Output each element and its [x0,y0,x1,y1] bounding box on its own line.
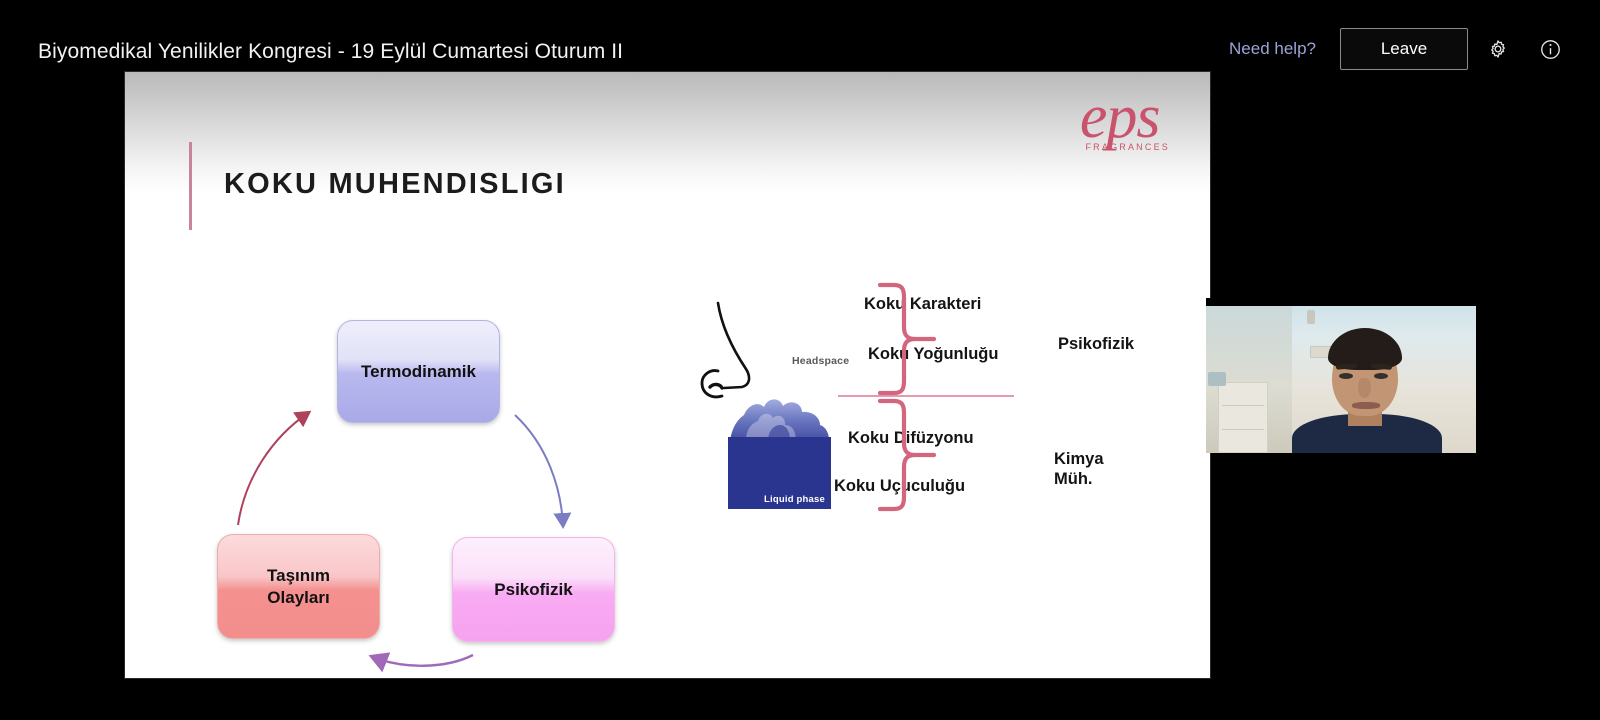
schematic-group-kimya-muh: Kimya Müh. [1054,449,1104,489]
cycle-box-label: Psikofizik [494,579,572,600]
cycle-box-termodinamik: Termodinamik [337,320,500,423]
video-person-eye-left [1339,373,1353,379]
arrow-transport-to-thermodinamik [238,413,308,525]
schematic-group-label-line1: Kimya [1054,450,1104,468]
settings-button[interactable] [1476,28,1520,70]
schematic-group-label-line2: Müh. [1054,470,1093,488]
video-ceiling-lamp [1307,310,1315,324]
presentation-slide[interactable]: eps FRAGRANCES KOKU MUHENDISLIGI [125,72,1210,678]
need-help-link[interactable]: Need help? [1229,39,1316,59]
meeting-top-bar: Biyomedikal Yenilikler Kongresi - 19 Eyl… [0,0,1600,68]
video-person-eye-right [1374,373,1388,379]
top-bar-controls: Need help? Leave [1229,28,1572,70]
participant-video-tile[interactable] [1206,298,1476,453]
slide-title-block: KOKU MUHENDISLIGI [189,142,566,230]
title-accent-bar [189,142,192,230]
video-wall-object [1208,372,1226,386]
liquid-phase-box: Liquid phase [728,437,831,509]
info-circle-icon [1539,38,1562,61]
liquid-phase-label: Liquid phase [764,494,825,505]
cycle-box-label: Termodinamik [361,361,476,382]
cycle-box-label-line1: Taşınım [267,566,330,585]
cycle-box-label: Taşınım Olayları [267,565,330,608]
video-shelf [1218,382,1268,453]
vapor-smoke-graphic [728,395,831,441]
meeting-title: Biyomedikal Yenilikler Kongresi - 19 Eyl… [38,40,623,64]
schematic-group-psikofizik: Psikofizik [1058,334,1134,354]
eps-logo-wordmark: eps [1069,86,1170,148]
info-button[interactable] [1528,28,1572,70]
video-person-nose [1358,378,1371,398]
meeting-window: Biyomedikal Yenilikler Kongresi - 19 Eyl… [0,0,1600,720]
arrow-thermodinamik-to-psikofizik [515,415,563,525]
video-person-mouth [1352,402,1380,409]
eps-fragrances-logo: eps FRAGRANCES [1069,86,1170,152]
leave-button[interactable]: Leave [1340,28,1468,70]
cycle-box-tasinim-olaylari: Taşınım Olayları [217,534,380,639]
slide-title: KOKU MUHENDISLIGI [224,168,566,205]
schematic-braces [830,277,1080,547]
cycle-diagram: Termodinamik Taşınım Olayları Psikofizik [165,237,645,597]
cycle-box-label-line2: Olayları [267,588,329,607]
headspace-schematic: Headspace Liquid phase Koku Karakteri Ko… [670,277,1190,567]
video-letterbox-bar [1206,298,1476,306]
arrow-psikofizik-to-transport [373,655,473,666]
eps-logo-subtitle: FRAGRANCES [1085,142,1170,152]
gear-icon [1487,38,1509,60]
cycle-box-psikofizik: Psikofizik [452,537,615,642]
